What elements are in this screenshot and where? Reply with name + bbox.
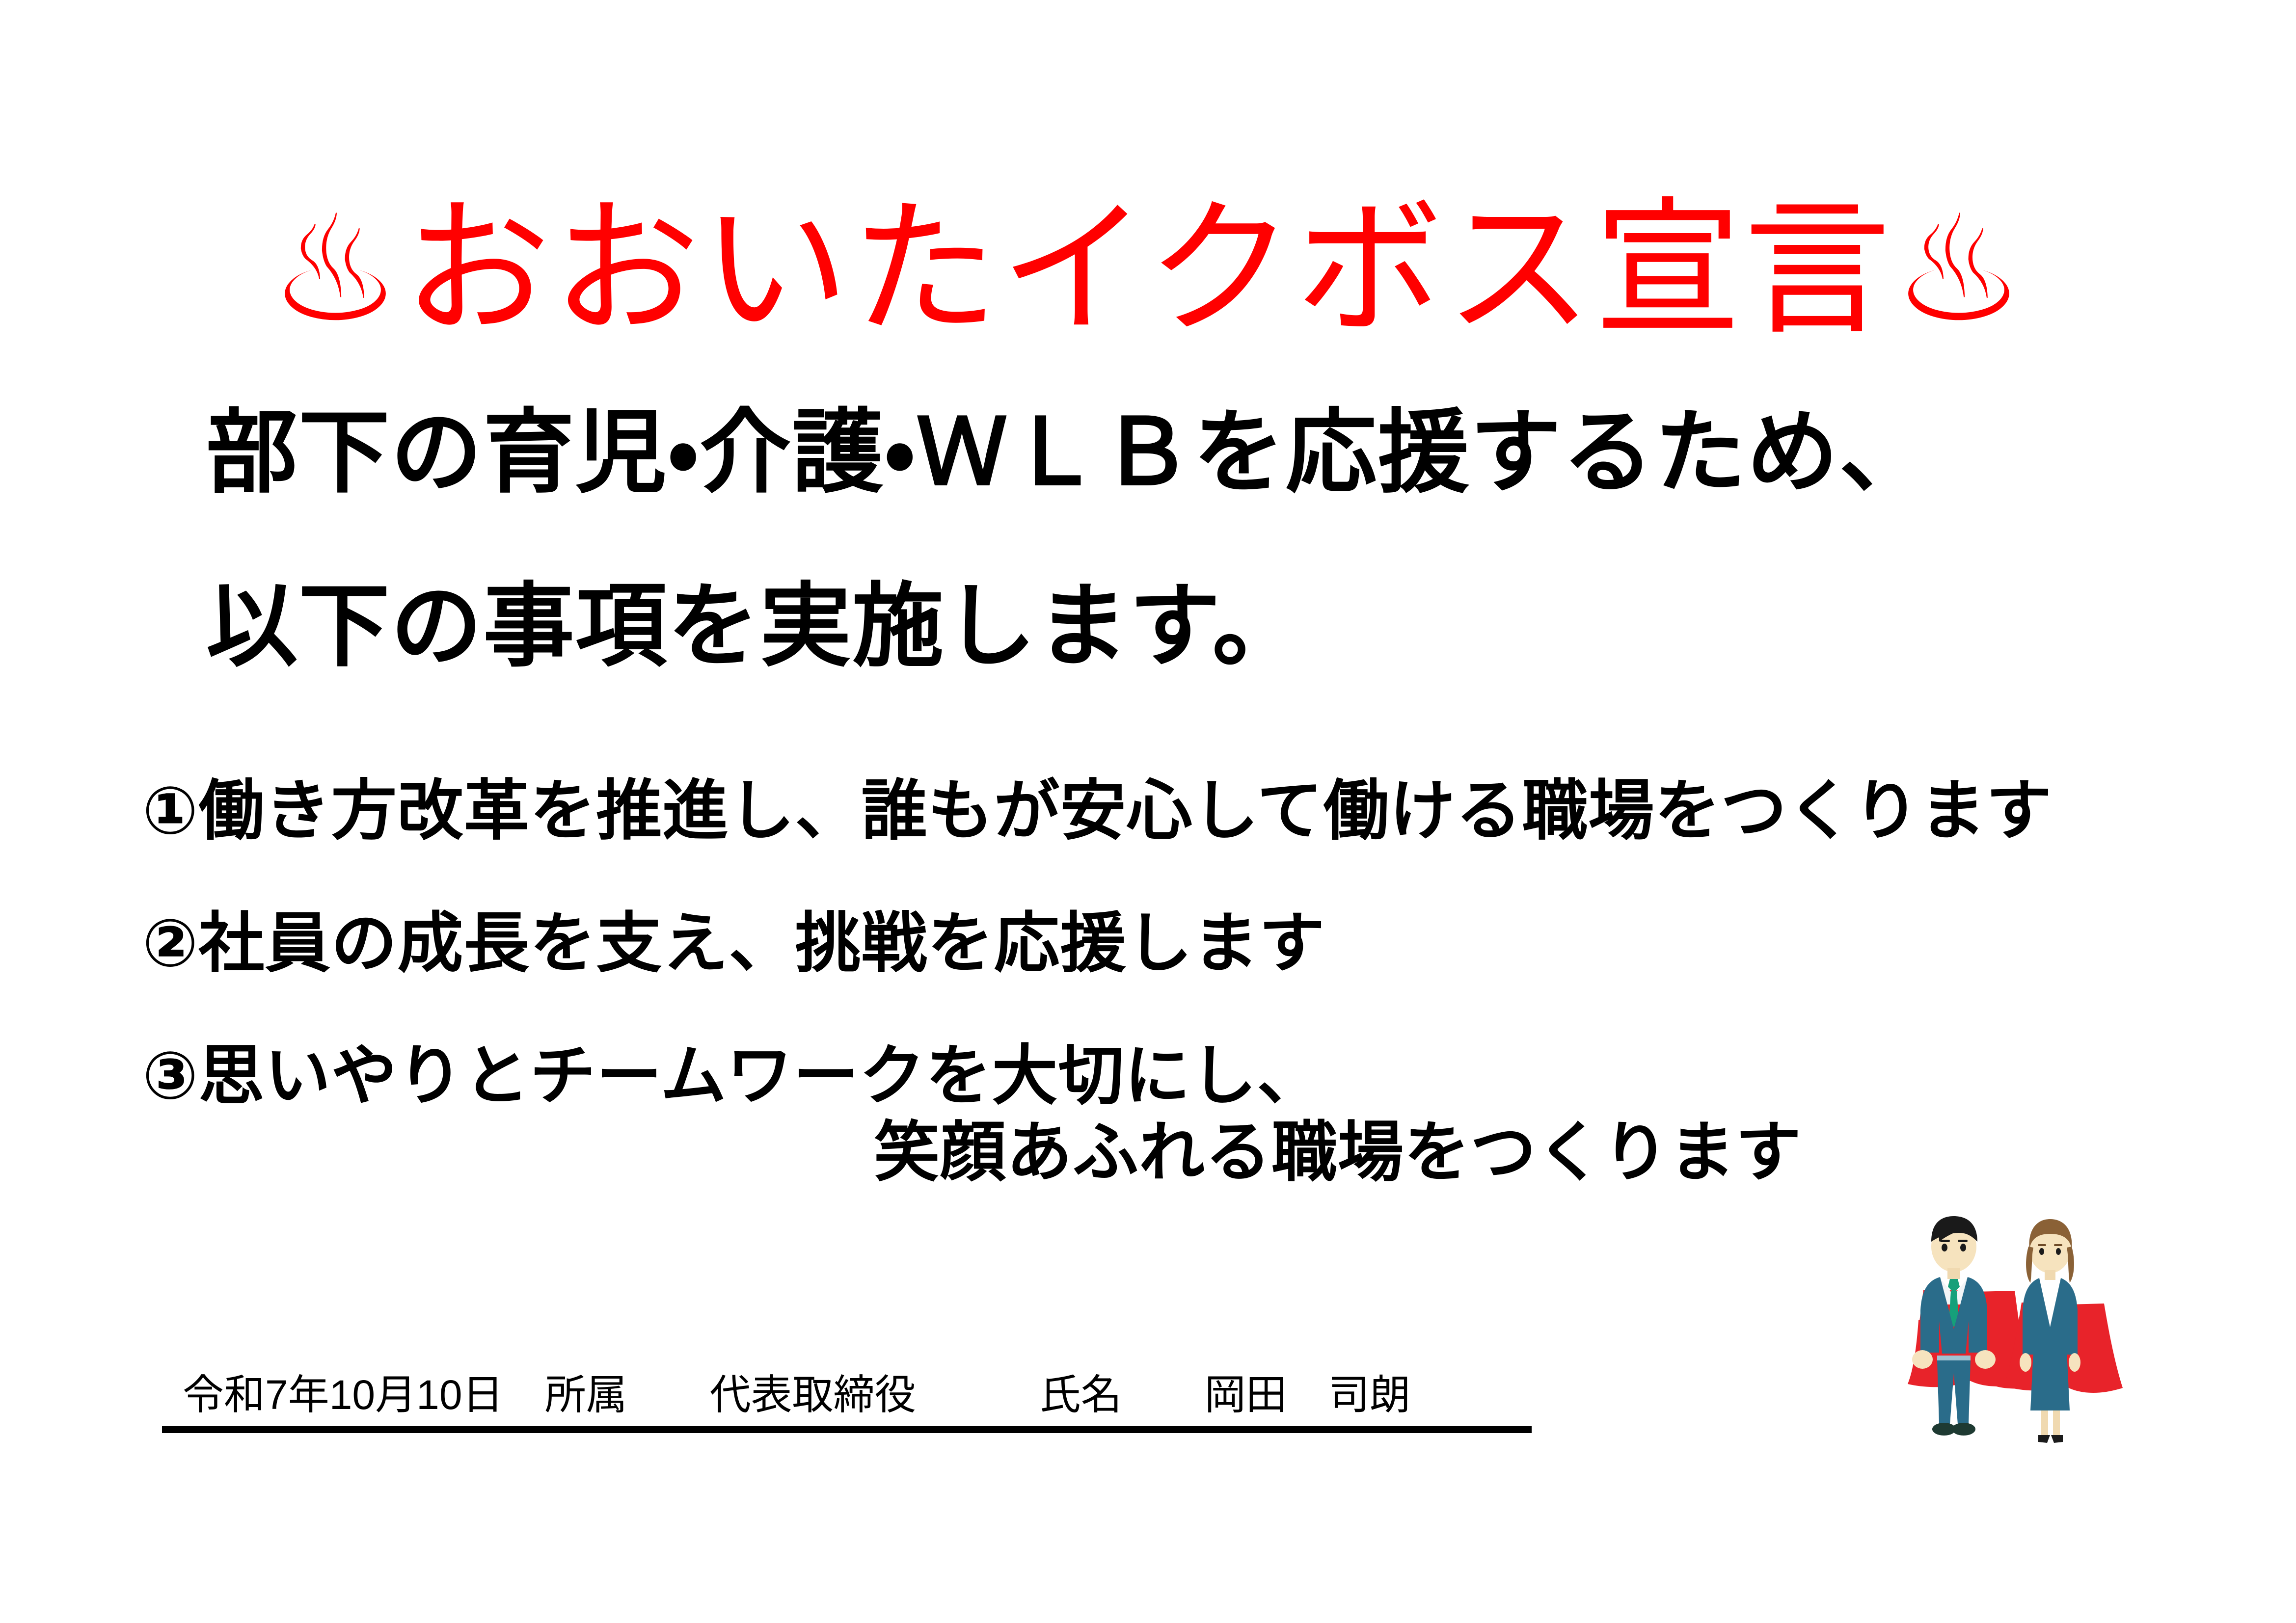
signature-underline bbox=[162, 1426, 1532, 1433]
intro-line-2: 以下の事項を実施します。 bbox=[206, 581, 2121, 672]
poster-page: ♨おおいたイクボス宣言♨ 部下の育児・介護・ＷＬＢを応援するため、 以下の事項を… bbox=[0, 0, 2296, 1623]
page-title: ♨おおいたイクボス宣言♨ bbox=[0, 195, 2296, 343]
two-caped-business-people-illustration bbox=[1865, 1173, 2140, 1448]
signature-line: 令和7年10月10日 所属 代表取締役 氏名 岡田 司朗 bbox=[162, 1374, 1537, 1426]
list-item: ③思いやりとチームワークを大切にし、 bbox=[142, 1043, 2253, 1109]
list-item: ②社員の成長を支え、挑戦を応援します bbox=[142, 911, 2253, 977]
commitment-list: ①働き方改革を推進し、誰もが安心して働ける職場をつくります ②社員の成長を支え、… bbox=[142, 778, 2253, 1186]
signature-block: 令和7年10月10日 所属 代表取締役 氏名 岡田 司朗 bbox=[162, 1374, 1537, 1433]
list-item: ①働き方改革を推進し、誰もが安心して働ける職場をつくります bbox=[142, 778, 2253, 844]
female-business-person-with-cape bbox=[2004, 1219, 2123, 1443]
intro-paragraph: 部下の育児・介護・ＷＬＢを応援するため、 以下の事項を実施します。 bbox=[206, 407, 2121, 672]
intro-line-1: 部下の育児・介護・ＷＬＢを応援するため、 bbox=[206, 407, 2121, 499]
title-text: ♨おおいたイクボス宣言♨ bbox=[270, 186, 2027, 351]
